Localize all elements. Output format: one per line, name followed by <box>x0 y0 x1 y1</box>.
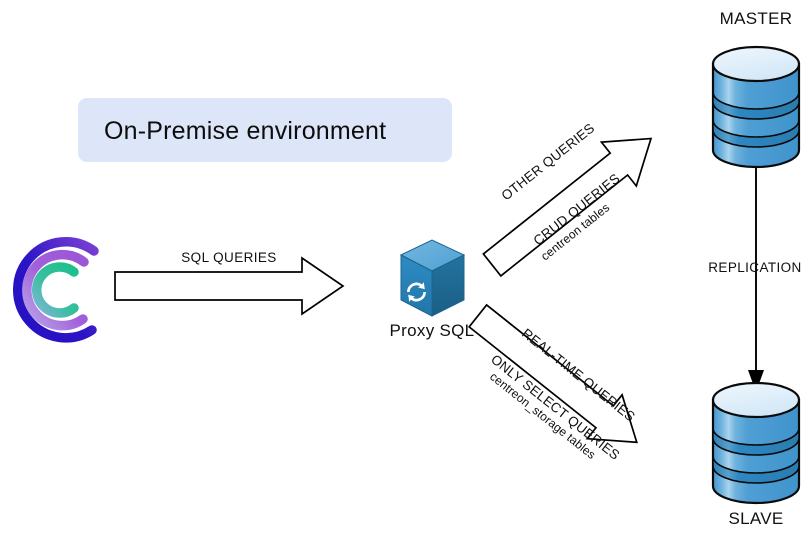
database-master: MASTER <box>713 9 799 167</box>
database-slave: SLAVE <box>713 383 799 528</box>
on-premise-zone: On-Premise environment <box>78 98 452 162</box>
slave-label: SLAVE <box>728 509 783 528</box>
flow-replication: REPLICATION <box>708 168 801 392</box>
sql-queries-arrow-shape <box>115 258 343 314</box>
master-cylinder-top <box>713 47 799 81</box>
centreon-logo <box>18 242 94 338</box>
architecture-diagram: On-Premise environment SQL QUERIES <box>0 0 812 540</box>
slave-cylinder-top <box>713 383 799 417</box>
flow-sql-queries: SQL QUERIES <box>115 250 343 314</box>
proxy-sql-label: Proxy SQL <box>390 321 475 340</box>
flow-proxy-to-slave: REAL-TIME QUERIES ONLY SELECT QUERIES ce… <box>460 294 654 464</box>
flow-proxy-to-master: OTHER QUERIES CRUD QUERIES centreon tabl… <box>475 117 669 287</box>
logo-arc-inner <box>37 267 74 313</box>
sql-queries-label: SQL QUERIES <box>181 250 276 265</box>
replication-label: REPLICATION <box>708 260 801 275</box>
diagram-canvas: On-Premise environment SQL QUERIES <box>0 0 812 540</box>
zone-title: On-Premise environment <box>104 117 386 145</box>
proxy-sql-node: Proxy SQL <box>390 240 475 340</box>
master-label: MASTER <box>720 9 793 28</box>
